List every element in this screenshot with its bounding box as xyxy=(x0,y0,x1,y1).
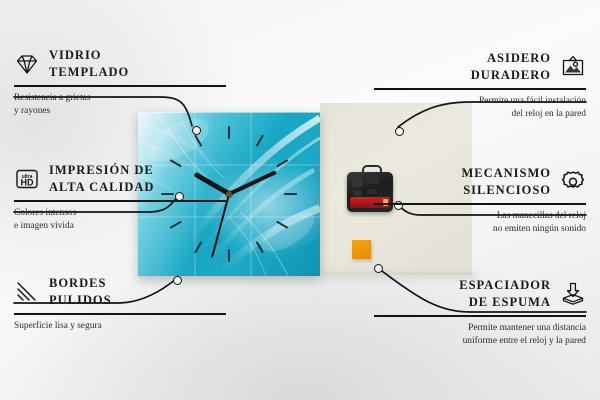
feature-description: Permite una fácil instalación del reloj … xyxy=(374,95,586,121)
feature-rule xyxy=(374,88,586,90)
feature-description: Colores intensos e imagen vívida xyxy=(14,207,226,233)
feature-title: IMPRESIÓN DE ALTA CALIDAD xyxy=(49,162,154,195)
picture-hanger-icon xyxy=(560,54,586,80)
feature-title-line2: PULIDOS xyxy=(49,292,112,309)
feature-impresion-alta-calidad: ultra HD IMPRESIÓN DE ALTA CALIDAD Color… xyxy=(14,162,226,233)
feature-desc-line2: uniforme entre el reloj y la pared xyxy=(374,335,586,348)
feature-header: ESPACIADOR DE ESPUMA xyxy=(374,277,586,310)
feature-title-line2: TEMPLADO xyxy=(49,64,129,81)
feature-desc-line1: Permite mantener una distancia xyxy=(374,322,586,335)
feature-desc-line1: Colores intensos xyxy=(14,207,226,220)
feature-desc-line2: del reloj en la pared xyxy=(374,108,586,121)
feature-rule xyxy=(374,315,586,317)
ultra-hd-badge-icon: ultra HD xyxy=(14,166,40,192)
connector-dot-espaciador xyxy=(374,264,383,273)
feature-title: BORDES PULIDOS xyxy=(49,275,112,308)
feature-vidrio-templado: VIDRIO TEMPLADO Resistencia a grietas y … xyxy=(14,47,226,118)
polished-edges-icon xyxy=(14,279,40,305)
gear-icon xyxy=(560,169,586,195)
feature-description: Resistencia a grietas y rayones xyxy=(14,92,226,118)
feature-header: BORDES PULIDOS xyxy=(14,275,226,308)
feature-title-line1: VIDRIO xyxy=(49,47,129,64)
feature-asidero-duradero: ASIDERO DURADERO Permite una fácil insta… xyxy=(374,50,586,121)
feature-rule xyxy=(14,313,226,315)
feature-title-line2: ALTA CALIDAD xyxy=(49,179,154,196)
feature-header: ultra HD IMPRESIÓN DE ALTA CALIDAD xyxy=(14,162,226,195)
feature-desc-line1: Permite una fácil instalación xyxy=(374,95,586,108)
feature-description: Permite mantener una distancia uniforme … xyxy=(374,322,586,348)
feature-espaciador-de-espuma: ESPACIADOR DE ESPUMA Permite mantener un… xyxy=(374,277,586,348)
feature-title: ESPACIADOR DE ESPUMA xyxy=(459,277,551,310)
feature-desc-line2: no emiten ningún sonido xyxy=(374,223,586,236)
feature-title-line2: DE ESPUMA xyxy=(459,294,551,311)
badge-text-large: HD xyxy=(21,177,34,187)
connector-dot-vidrio-templado xyxy=(192,126,201,135)
diamond-icon xyxy=(14,51,40,77)
feature-title-line1: IMPRESIÓN DE xyxy=(49,162,154,179)
feature-header: ASIDERO DURADERO xyxy=(374,50,586,83)
feature-desc-line2: e imagen vívida xyxy=(14,220,226,233)
feature-title-line2: DURADERO xyxy=(471,67,551,84)
feature-title-line1: ASIDERO xyxy=(471,50,551,67)
feature-header: VIDRIO TEMPLADO xyxy=(14,47,226,80)
feature-title: ASIDERO DURADERO xyxy=(471,50,551,83)
infographic-stage: VIDRIO TEMPLADO Resistencia a grietas y … xyxy=(0,0,600,400)
feature-desc-line1: Resistencia a grietas xyxy=(14,92,226,105)
foam-spacer-arrow-icon xyxy=(560,281,586,307)
feature-rule xyxy=(14,85,226,87)
connector-dot-asidero xyxy=(395,127,404,136)
feature-desc-line2: y rayones xyxy=(14,105,226,118)
feature-desc-line1: Las manecillas del reloj xyxy=(374,210,586,223)
feature-title: VIDRIO TEMPLADO xyxy=(49,47,129,80)
feature-title-line1: MECANISMO xyxy=(461,165,551,182)
feature-description: Superficie lisa y segura xyxy=(14,320,226,333)
feature-title: MECANISMO SILENCIOSO xyxy=(461,165,551,198)
feature-rule xyxy=(14,200,226,202)
feature-description: Las manecillas del reloj no emiten ningú… xyxy=(374,210,586,236)
feature-title-line2: SILENCIOSO xyxy=(461,182,551,199)
feature-desc-line1: Superficie lisa y segura xyxy=(14,320,226,333)
feature-header: MECANISMO SILENCIOSO xyxy=(374,165,586,198)
feature-mecanismo-silencioso: MECANISMO SILENCIOSO Las manecillas del … xyxy=(374,165,586,236)
feature-bordes-pulidos: BORDES PULIDOS Superficie lisa y segura xyxy=(14,275,226,333)
feature-title-line1: ESPACIADOR xyxy=(459,277,551,294)
feature-rule xyxy=(374,203,586,205)
feature-title-line1: BORDES xyxy=(49,275,112,292)
